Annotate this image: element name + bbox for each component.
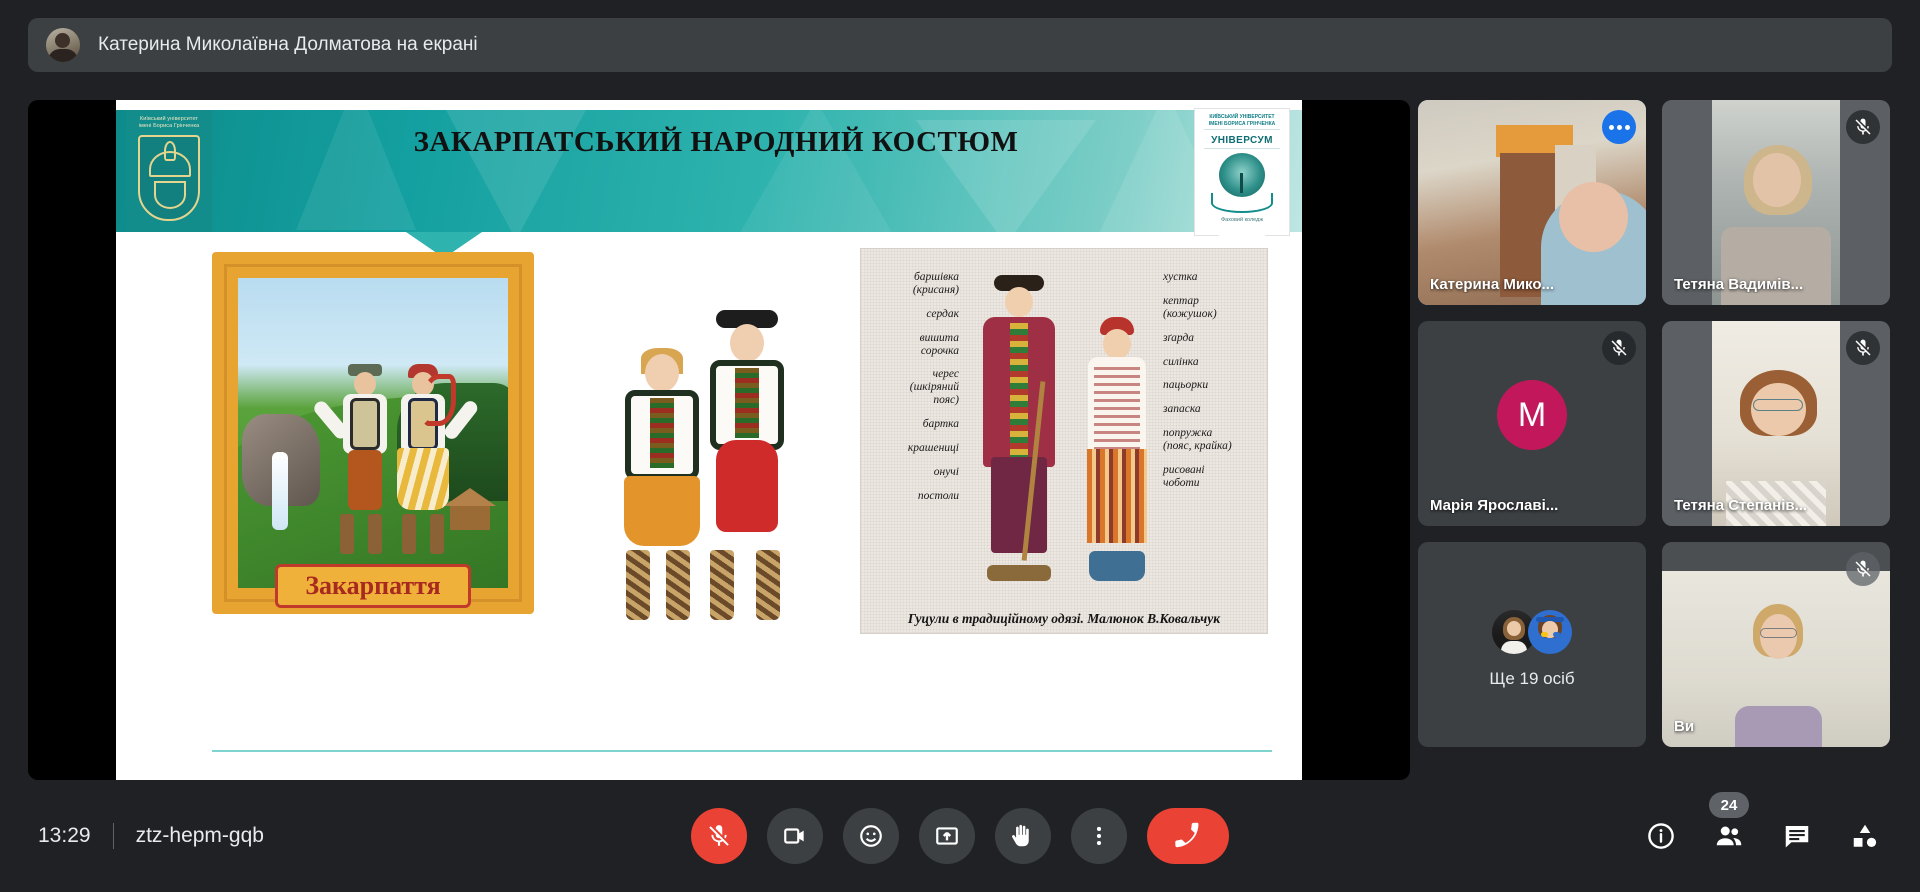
meeting-meta: 13:29 ztz-hepm-gqb (38, 823, 264, 849)
diagram-caption: Гуцули в традиційному одязі. Малюнок В.К… (861, 611, 1267, 627)
participant-name: Ви (1674, 718, 1850, 735)
slide-divider-rule (212, 750, 1272, 752)
diagram-label-left-2: вишитасорочка (867, 332, 959, 358)
camera-button[interactable] (767, 808, 823, 864)
mic-off-icon (1846, 331, 1880, 365)
diagram-label-right-7: рисованічоботи (1163, 464, 1261, 490)
microphone-off-button[interactable] (691, 808, 747, 864)
meet-window: Катерина Миколаївна Долматова на екрані … (0, 0, 1920, 892)
speaking-dots-icon (1602, 110, 1636, 144)
slide-title: ЗАКАРПАТСЬКИЙ НАРОДНИЙ КОСТЮМ (316, 126, 1116, 159)
logo-right-college: Фаховий коледж (1221, 217, 1263, 223)
overflow-avatars (1492, 610, 1572, 654)
emoji-button[interactable] (843, 808, 899, 864)
present-screen-button[interactable] (919, 808, 975, 864)
meta-divider (113, 823, 114, 849)
call-controls (691, 808, 1229, 864)
chat-button[interactable] (1780, 819, 1814, 853)
zakarpattia-scene (238, 278, 508, 588)
zakarpattia-plate: Закарпаття (275, 564, 471, 608)
participant-name: Катерина Мико... (1430, 276, 1606, 293)
diagram-label-left-7: постоли (867, 490, 959, 503)
watercolor-couple-image (586, 290, 836, 630)
avatar-letter: M (1518, 396, 1546, 435)
current-time: 13:29 (38, 824, 91, 848)
diagram-label-right-6: попружка(пояс, крайка) (1163, 427, 1261, 453)
diagram-label-right-4: пацьорки (1163, 379, 1261, 392)
diagram-label-left-6: онучі (867, 466, 959, 479)
diagram-labels-left: баршівка(крисаня) сердак вишитасорочка ч… (867, 271, 959, 514)
diagram-figures (965, 261, 1161, 593)
logo-right-line2: ІМЕНІ БОРИСА ГРІНЧЕНКА (1209, 121, 1275, 128)
participant-name: Тетяна Степанів... (1674, 497, 1850, 514)
diagram-label-left-5: крашениці (867, 442, 959, 455)
diagram-label-right-2: зґарда (1163, 332, 1261, 345)
university-logo-left: Київський університет імені Бориса Грінч… (126, 110, 212, 232)
participant-name: Тетяна Вадимів... (1674, 276, 1850, 293)
participant-tile-katerina[interactable]: Катерина Мико... (1418, 100, 1646, 305)
overflow-avatar-2 (1528, 610, 1572, 654)
shield-icon (138, 135, 200, 221)
avatar: M (1497, 380, 1567, 450)
diagram-labels-right: хустка кептар(кожушок) зґарда силінка па… (1163, 271, 1261, 501)
diagram-label-right-1: кептар(кожушок) (1163, 295, 1261, 321)
right-controls: 24 (1644, 819, 1882, 853)
diagram-label-left-0: баршівка(крисаня) (867, 271, 959, 297)
presenter-banner: Катерина Миколаївна Долматова на екрані (28, 18, 1892, 72)
diagram-label-right-3: силінка (1163, 356, 1261, 369)
mic-off-icon (1846, 552, 1880, 586)
participant-tile-you[interactable]: Ви (1662, 542, 1890, 747)
people-button[interactable]: 24 (1712, 819, 1746, 853)
presentation-slide: Київський університет імені Бориса Грінч… (116, 100, 1302, 780)
activities-button[interactable] (1848, 819, 1882, 853)
diagram-label-left-3: черес(шкірянийпояс) (867, 368, 959, 407)
watercolor-male (682, 310, 812, 620)
mic-off-icon (1846, 110, 1880, 144)
participant-tile-tetyana-s[interactable]: Тетяна Степанів... (1662, 321, 1890, 526)
raise-hand-button[interactable] (995, 808, 1051, 864)
diagram-label-left-4: бартка (867, 418, 959, 431)
diagram-label-left-1: сердак (867, 308, 959, 321)
logo-left-line2: імені Бориса Грінченка (139, 123, 200, 130)
presenter-banner-label: Катерина Миколаївна Долматова на екрані (98, 34, 478, 56)
presenter-avatar (46, 28, 80, 62)
participant-tile-tetyana-v[interactable]: Тетяна Вадимів... (1662, 100, 1890, 305)
dancer-female (388, 364, 458, 554)
end-call-button[interactable] (1147, 808, 1229, 864)
shared-screen-stage[interactable]: Київський університет імені Бориса Грінч… (28, 100, 1410, 780)
tree-icon (1219, 153, 1265, 197)
bottom-bar: 13:29 ztz-hepm-gqb (0, 780, 1920, 892)
more-options-button[interactable] (1071, 808, 1127, 864)
diagram-female-figure (1075, 313, 1159, 581)
logo-right-universum: УНІВЕРСУМ (1211, 135, 1273, 146)
diagram-male-figure (971, 271, 1067, 581)
participant-count-badge: 24 (1709, 792, 1749, 818)
participant-tile-overflow[interactable]: Ще 19 осіб (1418, 542, 1646, 747)
overflow-label: Ще 19 осіб (1418, 669, 1646, 689)
participant-grid: Катерина Мико... Тетяна Вадимів... M Мар… (1418, 100, 1890, 745)
meeting-details-button[interactable] (1644, 819, 1678, 853)
participant-name: Марія Ярославі... (1430, 497, 1606, 514)
diagram-label-right-0: хустка (1163, 271, 1261, 284)
participant-tile-mariya[interactable]: M Марія Ярославі... (1418, 321, 1646, 526)
meeting-code[interactable]: ztz-hepm-gqb (136, 824, 264, 848)
university-logo-right: КИЇВСЬКИЙ УНІВЕРСИТЕТ ІМЕНІ БОРИСА ГРІНЧ… (1194, 108, 1290, 236)
mic-off-icon (1602, 331, 1636, 365)
zakarpattia-plate-label: Закарпаття (305, 571, 440, 601)
diagram-label-right-5: запаска (1163, 403, 1261, 416)
logo-left-line1: Київський університет (139, 116, 200, 123)
zakarpattia-framed-image: Закарпаття (212, 252, 534, 614)
hutsul-costume-diagram: баршівка(крисаня) сердак вишитасорочка ч… (860, 248, 1268, 634)
